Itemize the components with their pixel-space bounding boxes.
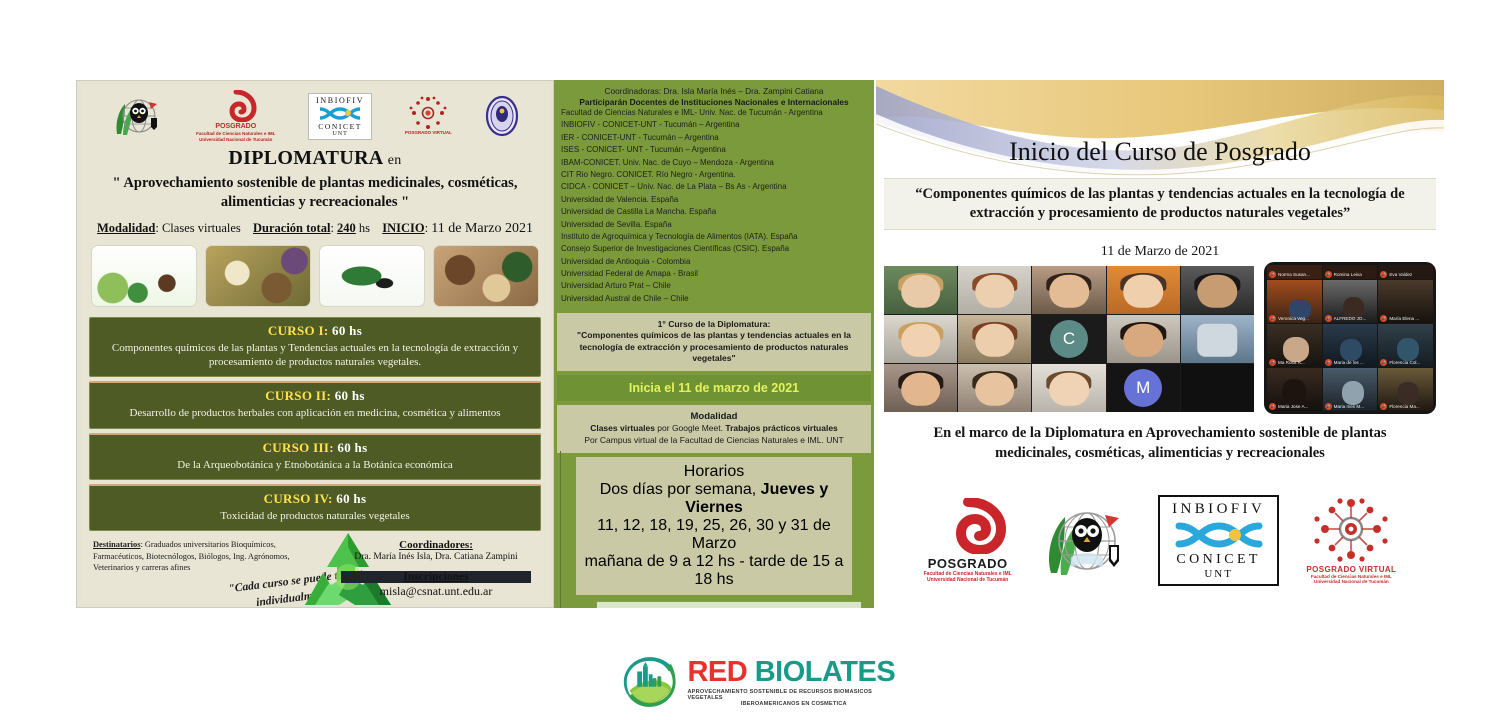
horarios-line1-a: Dos días por semana, [600,481,761,498]
mic-muted-icon: 🎤 [1325,271,1332,278]
course-desc: Desarrollo de productos herbales con apl… [100,406,530,420]
posgrado-virtual-icon: POSGRADO VIRTUAL [405,96,452,135]
institution-item: IBAM-CONICET. Univ. Nac. de Cuyo – Mendo… [561,157,869,169]
mic-muted-icon: 🎤 [1269,271,1276,278]
participant-name-row: 🎤Romina Leiva [1325,271,1376,278]
connector-line [560,451,561,608]
natural-ingredients-photo [433,245,539,307]
mic-muted-icon: 🎤 [1325,403,1332,410]
biolates-mark-icon [620,653,679,711]
coordinadores-names: Dra. María Inés Isla, Dra. Catiana Zampi… [341,552,531,562]
course-desc: Componentes químicos de las plantas y Te… [100,341,530,370]
meet-name-tile: 🎤Florencia Ma... [1378,368,1433,411]
participant-name: Ma Rosa R... [1278,360,1305,365]
meet-name-tile: 🎤ALFREDO JO... [1323,280,1378,323]
diplomatura-flyer: POSGRADO Facultad de Ciencias Naturales … [76,80,554,608]
posgrado-logo-line3: Universidad Nacional de Tucumán [927,577,1008,583]
course-card: CURSO III: 60 hs De la Arqueobotánica y … [89,433,541,480]
institution-item: Consejo Superior de Investigaciones Cien… [561,243,869,255]
inbiofiv-conicet-unt-icon: INBIOFIV CONICET UNT [308,93,372,140]
institution-item: Universidad Federal de Amapa - Brasil [561,268,869,280]
flyer-duracion-unit: hs [359,221,370,235]
participant-name: Maria de los ... [1334,360,1364,365]
meet-name-tile: 🎤Maria Ines M... [1323,368,1378,411]
course-heading: CURSO III: 60 hs [100,440,530,456]
course-heading: CURSO II: 60 hs [100,388,530,404]
modalidad-card: Modalidad Clases virtuales por Google Me… [557,405,871,453]
framework-text: En el marco de la Diplomatura en Aprovec… [876,424,1444,463]
event-date: 11 de Marzo de 2021 [876,244,1444,260]
meet-tile [884,364,957,412]
participant-name-row: 🎤Veronica Veg... [1269,315,1320,322]
inbiofiv-label: INBIOFIV [316,96,364,105]
participant-name-row: 🎤Florencia Ma... [1380,403,1431,410]
course-card: CURSO I: 60 hs Componentes químicos de l… [89,317,541,378]
flyer-modalidad-label: Modalidad [97,221,155,235]
cannabis-leaf-oil-photo [319,245,425,307]
coordinadores-block: Coordinadores: Dra. María Inés Isla, Dra… [341,539,531,599]
coordinadoras-line: Coordinadoras: Dra. Isla María Inés – Dr… [559,86,869,96]
mic-muted-icon: 🎤 [1325,315,1332,322]
meet-name-tile: 🎤Ma Rosa R... [1267,324,1322,367]
meet-tile [1181,315,1254,363]
mic-muted-icon: 🎤 [1269,403,1276,410]
institution-list: Facultad de Ciencias Naturales e IML- Un… [559,107,869,305]
evaluacion-heading: Sistema de evaluación [603,607,855,608]
meet-tile [958,315,1031,363]
flyer-footer: Destinatarios: Graduados universitarios … [81,531,549,608]
participant-name-row: 🎤Norma Susan... [1269,271,1320,278]
posgrado-logo-title: POSGRADO [928,556,1008,571]
course-hours: 60 hs [332,323,362,338]
institution-item: CIT Rio Negro. CONICET. Río Negro - Arge… [561,169,869,181]
participant-name-row: 🎤María Elena ... [1380,315,1431,322]
destinatarios-label: Destinatarios [93,540,140,549]
posgrado-logo-sub2: Universidad Nacional de Tucumán [199,137,272,142]
flyer-photo-strip [81,237,549,313]
institution-item: Universidad de Sevilla. España [561,219,869,231]
flyer-modalidad-value: Clases virtuales [162,221,241,235]
meet-tile [884,266,957,314]
participant-name-row: 🎤Maria de los ... [1325,359,1376,366]
institution-item: Universidad Arturo Prat – Chile [561,280,869,292]
avatar: M [1124,369,1162,407]
biolates-tagline-1: APROVECHAMIENTO SOSTENIBLE DE RECURSOS B… [687,689,900,701]
program-details-panel: Coordinadoras: Dra. Isla María Inés – Dr… [554,80,874,608]
flyer-title-tail: en [388,153,402,168]
modalidad-line2: Por Campus virtual de la Facultad de Cie… [565,434,863,446]
course-name-band: “Componentes químicos de las plantas y t… [884,178,1436,230]
meet-tile [1032,364,1105,412]
course-hours: 60 hs [336,491,366,506]
posgrado-logo-label: POSGRADO [215,123,256,131]
conicet-label: CONICET [318,122,362,131]
fcn-owl-globe-icon [111,94,163,138]
modalidad-line1-bold2: Trabajos prácticos virtuales [725,423,837,433]
mic-muted-icon: 🎤 [1380,271,1387,278]
participant-name-row: 🎤Florencia Col... [1380,359,1431,366]
dried-herbs-mortar-photo [205,245,311,307]
course-heading: CURSO IV: 60 hs [100,491,530,507]
institution-item: Universidad Austral de Chile – Chile [561,293,869,305]
meet-tile-avatar: C [1032,315,1105,363]
institution-item: ISES - CONICET- UNT - Tucumán – Argentin… [561,144,869,156]
participant-name: Florencia Ma... [1389,404,1419,409]
screenshot-root: POSGRADO Facultad de Ciencias Naturales … [0,0,1512,720]
participant-name: Eva Valdez [1389,272,1412,277]
meet-name-tile: 🎤Eva Valdez [1378,265,1433,279]
page-title: Inicio del Curso de Posgrado [876,137,1444,167]
mic-muted-icon: 🎤 [1325,359,1332,366]
flyer-inner: POSGRADO Facultad de Ciencias Naturales … [81,85,549,603]
start-date-band: Inicia el 11 de marzo de 2021 [557,375,871,401]
horarios-heading: Horarios [584,463,844,481]
participant-name: Florencia Col... [1389,360,1420,365]
meet-tile [958,266,1031,314]
participant-name: Norma Susan... [1278,272,1310,277]
flyer-inicio-label: INICIO [382,221,424,235]
institution-item: INBIOFIV - CONICET-UNT - Tucumán – Argen… [561,119,869,131]
participant-name: Romina Leiva [1334,272,1362,277]
institution-item: Instituto de Agroquímica y Tecnología de… [561,231,869,243]
flyer-logo-row: POSGRADO Facultad de Ciencias Naturales … [81,85,549,143]
flyer-meta-row: Modalidad: Clases virtuales Duración tot… [81,212,549,237]
posgrado-logo: POSGRADO Facultad de Ciencias Naturales … [924,498,1012,583]
first-course-card: 1° Curso de la Diplomatura: "Componentes… [557,313,871,371]
meet-name-tile: 🎤Maria Jose A... [1267,368,1322,411]
meet-name-tile: 🎤Veronica Veg... [1267,280,1322,323]
coordinadores-label: Coordinadores: [341,539,531,551]
event-announcement-panel: Inicio del Curso de Posgrado “Componente… [876,80,1444,608]
inbiofiv-conicet-unt-logo: INBIOFIV CONICET UNT [1158,495,1279,586]
mic-muted-icon: 🎤 [1269,315,1276,322]
fcn-owl-globe-logo [1039,501,1131,579]
posgrado-spiral-icon: POSGRADO Facultad de Ciencias Naturales … [196,90,275,141]
participant-name: ALFREDO JO... [1334,316,1367,321]
red-biolates-logo: RED BIOLATES APROVECHAMIENTO SOSTENIBLE … [620,652,900,712]
biolates-word-red: RED [687,656,747,688]
flyer-inicio: INICIO: 11 de Marzo 2021 [382,221,533,237]
destinatarios-block: Destinatarios: Graduados universitarios … [93,539,298,573]
posgrado-virtual-line3: Universidad Nacional de Tucumán [1314,579,1389,584]
institution-item: Universidad de Castilla La Mancha. Españ… [561,206,869,218]
participant-name: Maria Jose A... [1278,404,1308,409]
biolates-tagline-2: IBEROAMERICANOS EN COSMETICA [687,701,900,707]
flyer-duracion-label: Duración total [253,221,330,235]
inscripciones-label: Inscripciones [341,571,531,583]
meet-name-tile: 🎤Romina Leiva [1323,265,1378,279]
institution-item: Universidad de Antioquia - Colombia [561,256,869,268]
conicet-title: CONICET [1176,552,1260,568]
institution-item: IER - CONICET-UNT - Tucumán – Argentina [561,132,869,144]
course-title: CURSO IV: [264,491,333,506]
meet-name-tile: 🎤Maria de los ... [1323,324,1378,367]
mic-muted-icon: 🎤 [1380,359,1387,366]
participant-name-row: 🎤Maria Ines M... [1325,403,1376,410]
first-course-label: 1° Curso de la Diplomatura: [565,319,863,329]
course-desc: Toxicidad de productos naturales vegetal… [100,509,530,523]
modalidad-line1: Clases virtuales por Google Meet. Trabaj… [565,422,863,434]
unt-label: UNT [332,131,347,137]
mic-muted-icon: 🎤 [1269,359,1276,366]
horarios-line1: Dos días por semana, Jueves y Viernes [584,481,844,517]
meet-tile [884,315,957,363]
unt-title: UNT [1204,568,1233,580]
evaluacion-wrap: Sistema de evaluación Evaluación integra… [554,601,874,608]
flyer-title: DIPLOMATURA en [81,147,549,170]
right-logo-row: POSGRADO Facultad de Ciencias Naturales … [876,480,1444,600]
meet-name-tile: 🎤Norma Susan... [1267,265,1322,279]
institution-item: Facultad de Ciencias Naturales e IML- Un… [561,107,869,119]
biolates-title: RED BIOLATES [687,658,900,687]
google-meet-grid: C M [884,266,1254,412]
google-meet-grid-names: 🎤Norma Susan... 🎤Romina Leiva 🎤Eva Valde… [1264,262,1436,414]
flyer-subtitle: " Aprovechamiento sostenible de plantas … [81,174,549,212]
course-desc: De la Arqueobotánica y Etnobotánica a la… [100,458,530,472]
course-heading: CURSO I: 60 hs [100,323,530,339]
course-title: CURSO II: [265,388,331,403]
course-card: CURSO II: 60 hs Desarrollo de productos … [89,381,541,428]
flyer-title-main: DIPLOMATURA [228,147,382,169]
meet-tile [958,364,1031,412]
posgrado-virtual-label: POSGRADO VIRTUAL [405,130,452,135]
meet-tile-avatar: M [1107,364,1180,412]
flyer-duracion-value: 240 [337,221,356,235]
meet-tile [1107,266,1180,314]
participant-name-row: 🎤Eva Valdez [1380,271,1431,278]
university-seal-icon [485,95,519,137]
modalidad-heading: Modalidad [565,411,863,422]
participant-name: Veronica Veg... [1278,316,1309,321]
course-hours: 60 hs [337,440,367,455]
meet-tile [1181,364,1254,412]
mic-muted-icon: 🎤 [1380,315,1387,322]
meet-tile [1107,315,1180,363]
horarios-line2: 11, 12, 18, 19, 25, 26, 30 y 31 de Marzo [584,517,844,553]
herbal-oils-photo [91,245,197,307]
biolates-word-teal: BIOLATES [755,656,895,688]
course-title: CURSO III: [263,440,334,455]
posgrado-virtual-logo: POSGRADO VIRTUAL Facultad de Ciencias Na… [1306,497,1396,584]
first-course-title: "Componentes químicos de las plantas y t… [565,330,863,365]
mid-institutions-block: Coordinadoras: Dra. Isla María Inés – Dr… [554,80,874,309]
institution-item: CIDCA - CONICET – Univ. Nac. de La Plata… [561,181,869,193]
posgrado-virtual-title: POSGRADO VIRTUAL [1306,565,1396,574]
evaluacion-card: Sistema de evaluación Evaluación integra… [596,601,862,608]
mic-muted-icon: 🎤 [1380,403,1387,410]
participant-name-row: 🎤Ma Rosa R... [1269,359,1320,366]
meet-tile [1181,266,1254,314]
participant-name-row: 🎤Maria Jose A... [1269,403,1320,410]
modalidad-line1-bold: Clases virtuales [590,423,655,433]
participant-name: Maria Ines M... [1334,404,1364,409]
participant-name-row: 🎤ALFREDO JO... [1325,315,1376,322]
modalidad-line1-rest: por Google Meet. [655,423,725,433]
participant-name: María Elena ... [1389,316,1419,321]
flyer-inicio-value: 11 de Marzo 2021 [431,221,533,236]
horarios-card: Horarios Dos días por semana, Jueves y V… [576,457,852,595]
participaran-line: Participarán Docentes de Instituciones N… [559,97,869,107]
meet-tile [1032,266,1105,314]
meet-name-tile: 🎤María Elena ... [1378,280,1433,323]
horarios-line3: mañana de 9 a 12 hs - tarde de 15 a 18 h… [584,553,844,589]
flyer-modalidad: Modalidad: Clases virtuales [97,221,241,236]
course-card: CURSO IV: 60 hs Toxicidad de productos n… [89,484,541,531]
inbiofiv-title: INBIOFIV [1172,501,1265,518]
institution-item: Universidad de Valencia. España [561,194,869,206]
flyer-duracion: Duración total: 240 hs [253,221,370,236]
meeting-screenshot: C M [884,266,1436,412]
inscripciones-email: misla@csnat.unt.edu.ar [341,584,531,599]
meet-name-tile: 🎤Florencia Col... [1378,324,1433,367]
course-hours: 60 hs [335,388,365,403]
avatar: C [1050,320,1088,358]
course-title: CURSO I: [268,323,329,338]
biolates-text: RED BIOLATES APROVECHAMIENTO SOSTENIBLE … [687,658,900,707]
